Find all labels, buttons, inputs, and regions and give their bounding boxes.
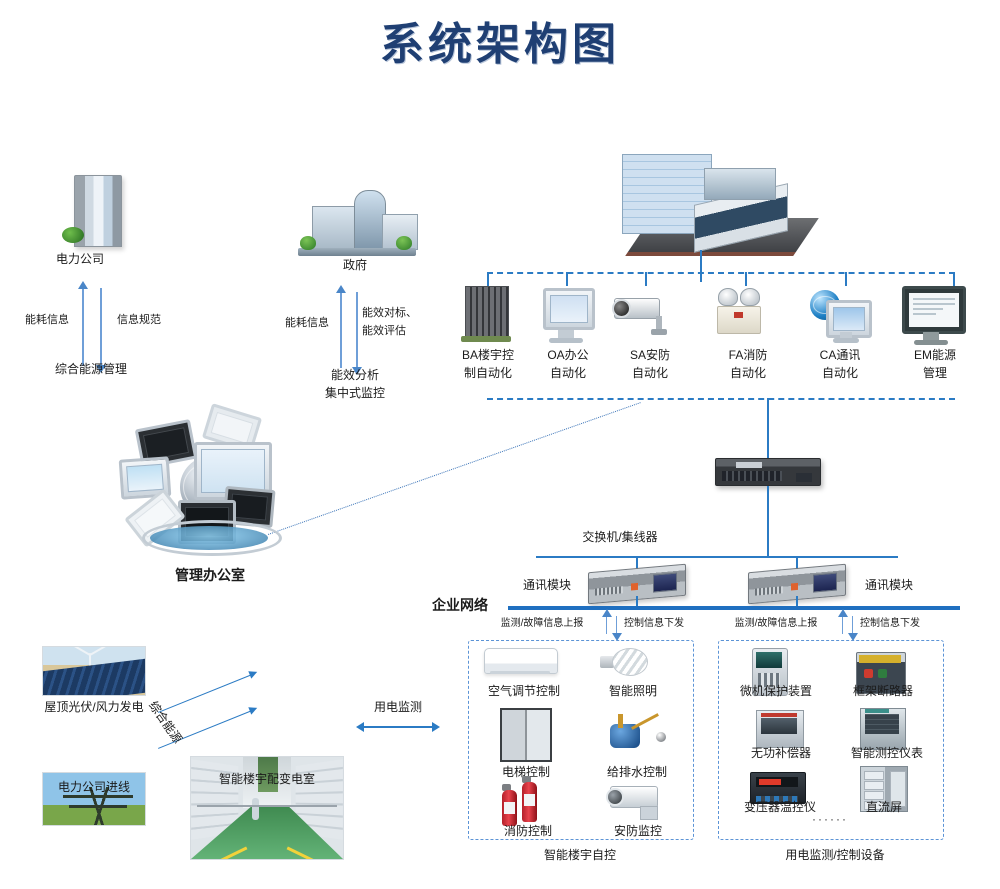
subsystem-label-em-2: 管理	[895, 366, 975, 381]
subsystem-bus-bottom	[487, 398, 955, 400]
solar-wind-photo-icon	[42, 646, 146, 696]
label-smart-lighting: 智能照明	[594, 684, 672, 699]
subsystem-label-em-1: EM能源	[895, 348, 975, 363]
label-water-supply-control: 给排水控制	[592, 765, 682, 780]
enterprise-network-bus	[508, 606, 960, 610]
label-air-conditioner: 空气调节控制	[478, 684, 570, 699]
building-automation-group-title: 智能楼宇自控	[500, 848, 660, 863]
bus-right-end	[953, 272, 955, 286]
building-drop-line	[700, 250, 702, 282]
subsystem-bus-top	[487, 272, 955, 274]
label-fire-control: 消防控制	[486, 824, 570, 839]
subsystem-icon-fa	[712, 288, 778, 346]
power-monitoring-link-label: 用电监测	[352, 700, 444, 715]
switch-label: 交换机/集线器	[540, 530, 700, 545]
government-up-arrow	[340, 292, 342, 368]
subsystem-icon-oa	[538, 288, 598, 346]
subsystem-label-ba-2: 制自动化	[448, 366, 528, 381]
page-title: 系统架构图	[0, 8, 1000, 72]
icon-elevator	[500, 708, 552, 760]
smart-building-icon	[608, 148, 798, 260]
communication-module-left-label: 通讯模块	[510, 578, 584, 593]
communication-module-left-icon	[588, 568, 688, 602]
flow-down-label-right: 控制信息下发	[860, 616, 950, 631]
government-up-arrow-label: 能耗信息	[276, 316, 338, 331]
substation-label: 智能楼宇配变电室	[192, 772, 342, 787]
label-reactive-compensator: 无功补偿器	[736, 746, 826, 761]
subsystem-label-ca-1: CA通讯	[800, 348, 880, 363]
bus-drop-5	[845, 272, 847, 286]
power-monitoring-ellipsis: ······	[790, 812, 870, 827]
integrated-energy-diagonal-label: 综合能源	[136, 685, 194, 759]
network-switch-icon	[715, 458, 821, 486]
government-down-arrow-label-2: 能效评估	[362, 324, 432, 339]
subsystem-icon-ca	[808, 288, 878, 346]
flow-down-label-left: 控制信息下发	[624, 616, 714, 631]
centralized-monitoring-label: 集中式监控	[300, 386, 410, 401]
grid-feed-label: 电力公司进线	[22, 780, 166, 795]
subsystem-label-fa-1: FA消防	[708, 348, 788, 363]
subsystem-label-sa-2: 自动化	[610, 366, 690, 381]
communication-module-right-label: 通讯模块	[852, 578, 926, 593]
government-down-arrow-label-1: 能效对标、	[362, 306, 432, 321]
government-down-arrow	[356, 292, 358, 368]
label-security-monitoring: 安防监控	[596, 824, 680, 839]
government-label: 政府	[296, 258, 414, 273]
renewable-to-substation-arrow	[158, 675, 251, 713]
integrated-energy-management-label: 综合能源管理	[26, 362, 156, 377]
icon-air-conditioner	[484, 648, 560, 678]
icon-water-valve	[604, 706, 670, 758]
label-protection-relay: 微机保护装置	[730, 684, 822, 699]
flow-down-arrow-right	[852, 616, 853, 634]
communication-module-right-icon	[748, 568, 848, 602]
subsystem-icon-sa	[612, 292, 684, 346]
management-office-icon	[120, 408, 300, 558]
power-company-down-arrow	[100, 288, 102, 366]
power-company-label: 电力公司	[20, 252, 140, 267]
subsystem-label-oa-1: OA办公	[528, 348, 608, 363]
label-smart-meter: 智能测控仪表	[840, 746, 934, 761]
diagram-canvas: 系统架构图 电力公司 能耗信息 信息规范 综合能源管理 政府 能耗信息 能效对标…	[0, 0, 1000, 889]
switch-downlink-line	[767, 486, 769, 558]
bus-drop-2	[566, 272, 568, 286]
subsystem-icon-ba	[455, 284, 519, 346]
power-monitoring-group-title: 用电监测/控制设备	[740, 848, 930, 863]
flow-down-arrow-left	[616, 616, 617, 634]
subsystem-label-ba-1: BA楼宇控	[448, 348, 528, 363]
icon-fire-extinguisher	[498, 776, 554, 820]
comm-distribution-line	[536, 556, 898, 558]
switch-uplink-line	[767, 398, 769, 458]
subsystem-icon-em	[900, 286, 970, 346]
flow-up-label-right: 监测/故障信息上报	[716, 616, 836, 631]
bus-drop-3	[645, 272, 647, 286]
energy-analysis-label: 能效分析	[300, 368, 410, 383]
enterprise-network-label: 企业网络	[432, 598, 504, 613]
icon-cfl-bulb	[600, 646, 660, 680]
flow-up-label-left: 监测/故障信息上报	[482, 616, 602, 631]
subsystem-label-fa-2: 自动化	[708, 366, 788, 381]
power-company-up-arrow	[82, 288, 84, 366]
icon-box-camera	[606, 782, 670, 822]
subsystem-label-ca-2: 自动化	[800, 366, 880, 381]
subsystem-label-oa-2: 自动化	[528, 366, 608, 381]
flow-up-arrow-right	[842, 616, 843, 634]
flow-up-arrow-left	[606, 616, 607, 634]
label-circuit-breaker: 框架断路器	[840, 684, 926, 699]
power-monitoring-link-arrow	[364, 726, 432, 728]
office-to-bus-link	[268, 402, 641, 535]
power-company-down-arrow-label: 信息规范	[104, 313, 174, 328]
power-company-up-arrow-label: 能耗信息	[16, 313, 78, 328]
bus-drop-4	[745, 272, 747, 286]
subsystem-label-sa-1: SA安防	[610, 348, 690, 363]
management-office-label: 管理办公室	[120, 568, 300, 583]
